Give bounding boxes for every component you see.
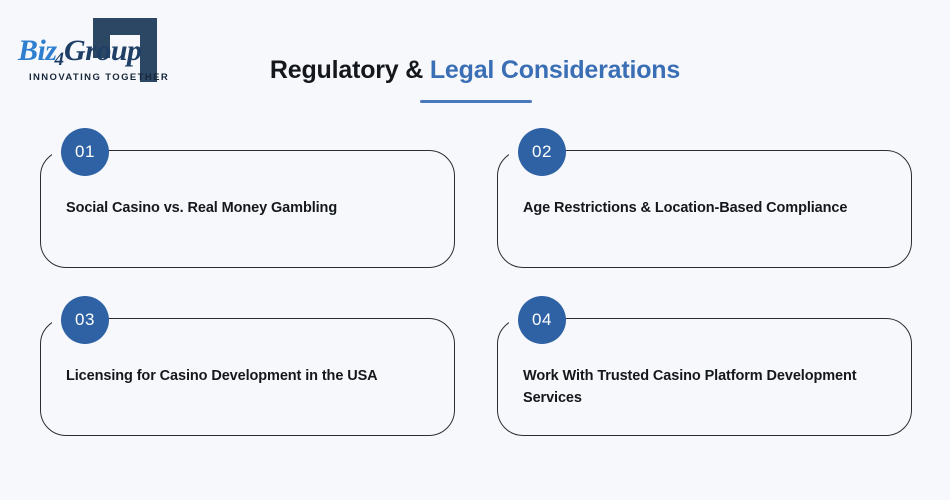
card-number-badge: 02 [518, 128, 566, 176]
card-number-badge: 04 [518, 296, 566, 344]
card-number-badge: 03 [61, 296, 109, 344]
card-title: Social Casino vs. Real Money Gambling [66, 198, 416, 220]
page-title-accent: Legal Considerations [430, 56, 680, 84]
page-title: Regulatory & Legal Considerations [0, 56, 950, 85]
card-01[interactable]: 01 Social Casino vs. Real Money Gambling [40, 150, 455, 268]
card-title: Work With Trusted Casino Platform Develo… [523, 366, 873, 410]
card-title: Age Restrictions & Location-Based Compli… [523, 198, 873, 220]
card-03[interactable]: 03 Licensing for Casino Development in t… [40, 318, 455, 436]
title-underline [420, 100, 532, 103]
page-title-plain: Regulatory & [270, 56, 430, 84]
cards-grid: 01 Social Casino vs. Real Money Gambling… [40, 130, 912, 436]
card-02[interactable]: 02 Age Restrictions & Location-Based Com… [497, 150, 912, 268]
card-number-badge: 01 [61, 128, 109, 176]
card-04[interactable]: 04 Work With Trusted Casino Platform Dev… [497, 318, 912, 436]
card-title: Licensing for Casino Development in the … [66, 366, 416, 388]
